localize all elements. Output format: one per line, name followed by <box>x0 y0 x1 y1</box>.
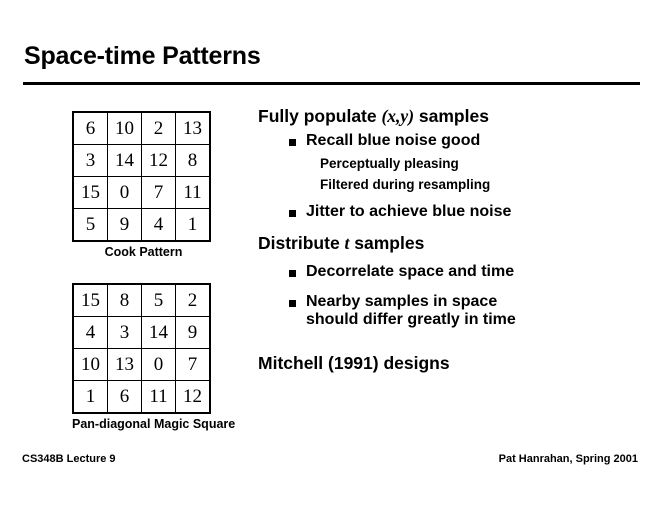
grid-cell: 11 <box>142 381 176 414</box>
grid-cell: 8 <box>108 284 142 317</box>
title-divider <box>23 82 640 85</box>
grid-cell: 4 <box>142 209 176 242</box>
grid-cell: 11 <box>176 177 211 209</box>
bullet-text-line2: should differ greatly in time <box>306 311 516 328</box>
number-grid: 6 10 2 13 3 14 12 8 15 0 7 11 <box>72 111 211 242</box>
table-row: 4 3 14 9 <box>73 317 210 349</box>
grid-cell: 12 <box>142 145 176 177</box>
grid-cell: 1 <box>176 209 211 242</box>
square-bullet-icon <box>289 139 296 146</box>
grid-cell: 10 <box>108 112 142 145</box>
grid-cell: 0 <box>142 349 176 381</box>
table-row: 15 8 5 2 <box>73 284 210 317</box>
bullet-text-pre: Distribute <box>258 233 345 253</box>
grid-cell: 7 <box>176 349 211 381</box>
grid-cell: 15 <box>73 177 108 209</box>
square-bullet-icon <box>289 210 296 217</box>
grid-cell: 10 <box>73 349 108 381</box>
grid-cell: 12 <box>176 381 211 414</box>
grid-cell: 7 <box>142 177 176 209</box>
spacer <box>258 336 648 353</box>
bullet-fully-populate: Fully populate (x,y) samples <box>258 106 648 127</box>
figure-cook-pattern: 6 10 2 13 3 14 12 8 15 0 7 11 <box>72 111 215 259</box>
grid-cell: 1 <box>73 381 108 414</box>
bullet-jitter-blue-noise: Jitter to achieve blue noise <box>258 203 648 222</box>
grid-cell: 14 <box>108 145 142 177</box>
grid-cell: 8 <box>176 145 211 177</box>
grid-cell: 15 <box>73 284 108 317</box>
bullet-recall-blue-noise: Recall blue noise good <box>258 132 648 151</box>
grid-cell: 13 <box>176 112 211 145</box>
grid-cell: 5 <box>142 284 176 317</box>
grid-cell: 5 <box>73 209 108 242</box>
bullet-distribute-t-samples: Distribute t samples <box>258 233 648 254</box>
grid-cell: 6 <box>73 112 108 145</box>
bullet-text-post: samples <box>414 106 489 126</box>
bullet-text: Recall blue noise good <box>306 132 480 149</box>
grid-cell: 9 <box>176 317 211 349</box>
table-row: 10 13 0 7 <box>73 349 210 381</box>
bullet-text-italic: (x,y) <box>381 106 414 126</box>
grid-cell: 14 <box>142 317 176 349</box>
table-row: 6 10 2 13 <box>73 112 210 145</box>
grid-cell: 2 <box>142 112 176 145</box>
grid-cell: 9 <box>108 209 142 242</box>
table-row: 1 6 11 12 <box>73 381 210 414</box>
figure-caption: Pan-diagonal Magic Square <box>55 417 215 431</box>
number-grid: 15 8 5 2 4 3 14 9 10 13 0 7 <box>72 283 211 414</box>
bullet-text-line1: Nearby samples in space <box>306 293 497 310</box>
slide-canvas: Space-time Patterns 6 10 2 13 3 14 12 8 … <box>0 0 660 510</box>
figure-caption: Cook Pattern <box>72 245 215 259</box>
grid-cell: 4 <box>73 317 108 349</box>
grid-cell: 2 <box>176 284 211 317</box>
bullet-text: Jitter to achieve blue noise <box>306 203 511 220</box>
bullet-text: Decorrelate space and time <box>306 263 514 280</box>
table-row: 3 14 12 8 <box>73 145 210 177</box>
footer-left: CS348B Lecture 9 <box>22 453 116 465</box>
page-title: Space-time Patterns <box>24 42 261 71</box>
bullet-decorrelate-space-time: Decorrelate space and time <box>258 263 648 282</box>
grid-cell: 6 <box>108 381 142 414</box>
square-bullet-icon <box>289 300 296 307</box>
bullet-mitchell-designs: Mitchell (1991) designs <box>258 353 648 374</box>
table-row: 15 0 7 11 <box>73 177 210 209</box>
table-row: 5 9 4 1 <box>73 209 210 242</box>
footer-right: Pat Hanrahan, Spring 2001 <box>499 453 638 465</box>
grid-cell: 3 <box>108 317 142 349</box>
bullet-text-post: samples <box>349 233 424 253</box>
grid-cell: 13 <box>108 349 142 381</box>
grid-cell: 0 <box>108 177 142 209</box>
bullet-filtered-during-resampling: Filtered during resampling <box>258 177 648 193</box>
square-bullet-icon <box>289 270 296 277</box>
bullet-list: Fully populate (x,y) samples Recall blue… <box>258 106 648 379</box>
bullet-perceptually-pleasing: Perceptually pleasing <box>258 156 648 172</box>
bullet-nearby-samples: Nearby samples in space should differ gr… <box>258 293 648 330</box>
bullet-text-pre: Fully populate <box>258 106 381 126</box>
figure-pan-diagonal-magic-square: 15 8 5 2 4 3 14 9 10 13 0 7 <box>72 283 215 431</box>
grid-cell: 3 <box>73 145 108 177</box>
